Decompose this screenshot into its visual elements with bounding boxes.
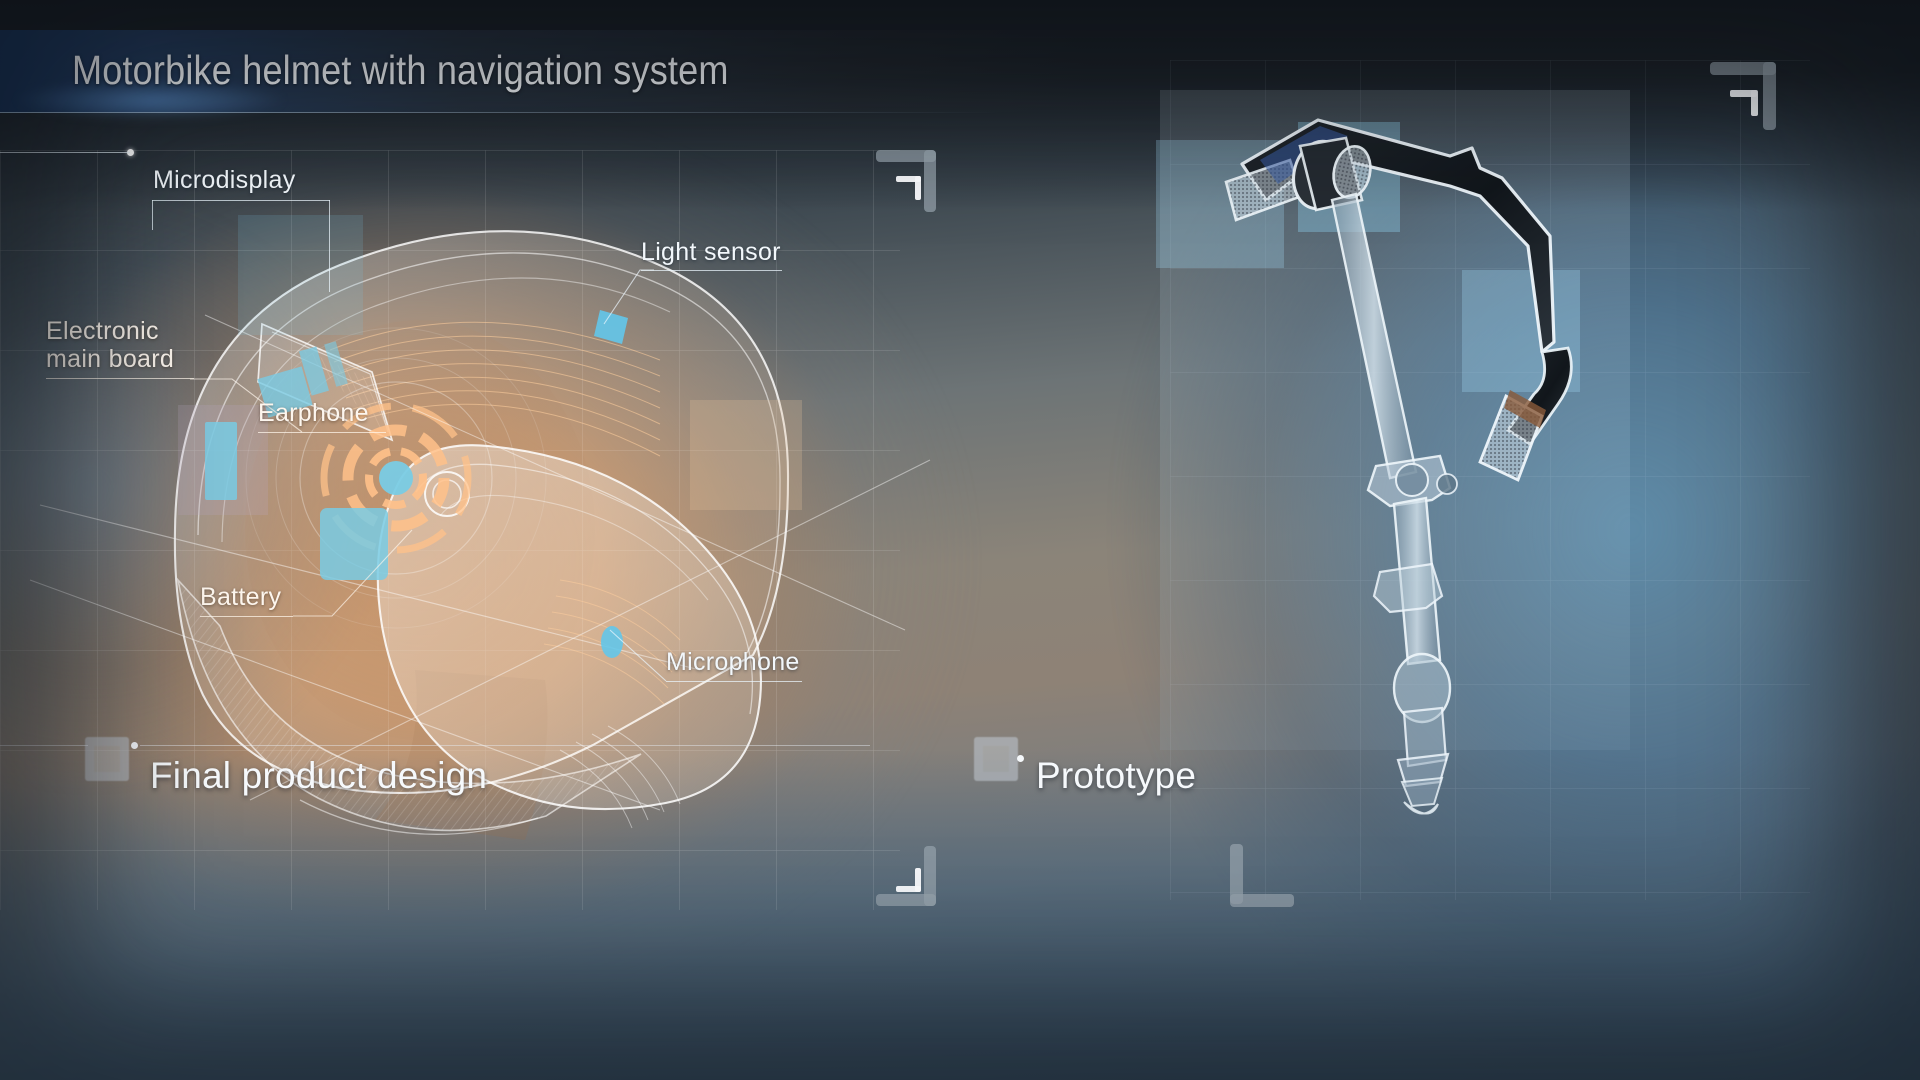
vignette <box>0 0 1920 1080</box>
presentation-slide: Motorbike helmet with navigation system <box>0 0 1920 1080</box>
